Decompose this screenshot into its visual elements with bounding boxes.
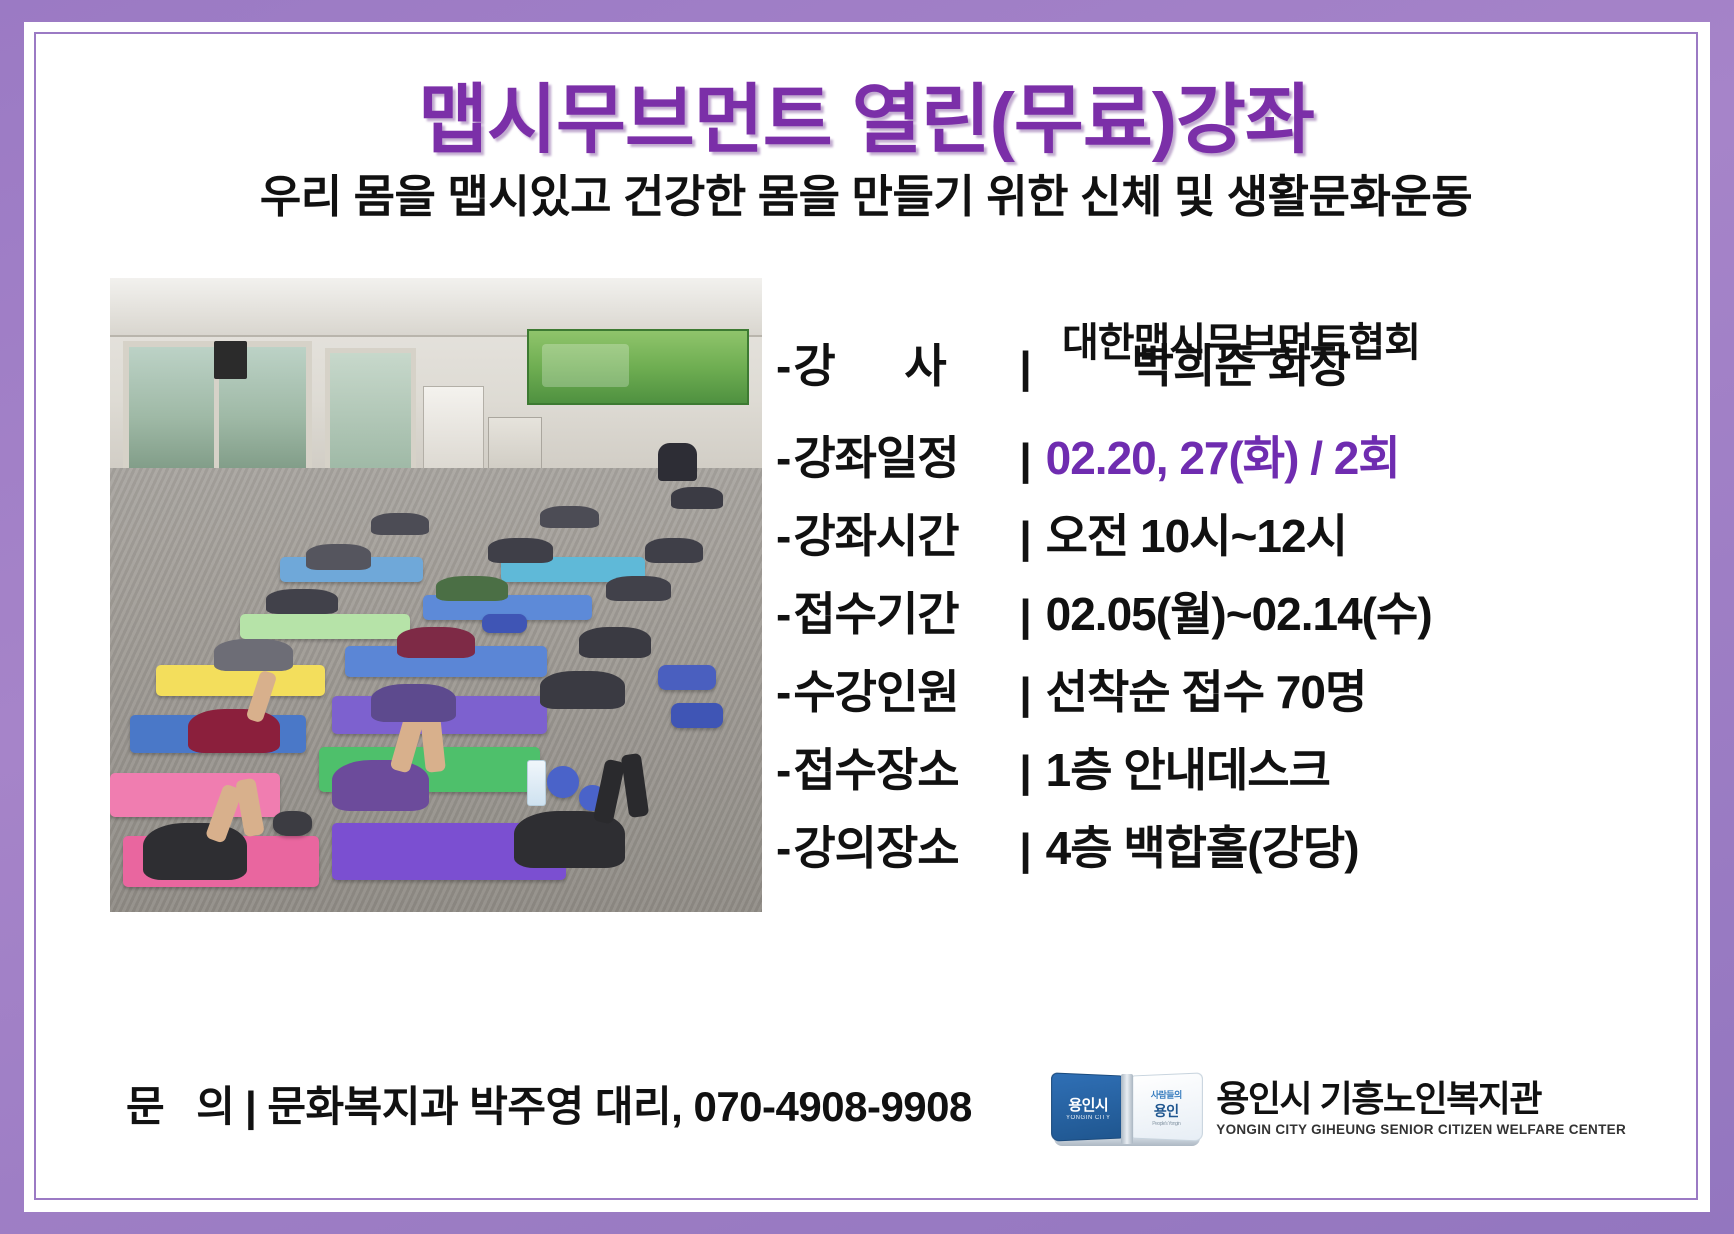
- book-right-text: 사람들의 용인 People's Yongin: [1136, 1088, 1196, 1127]
- row-label: 강 사: [793, 330, 1019, 396]
- logo-text-block: 용인시 기흥노인복지관 YONGIN CITY GIHEUNG SENIOR C…: [1216, 1081, 1626, 1137]
- page-title: 맵시무브먼트 열린(무료)강좌: [36, 58, 1696, 168]
- photo-bolster: [658, 665, 717, 690]
- info-row-lecture-place: - 강의장소 | 4층 백합홀(강당): [776, 812, 1676, 890]
- photo-participant: [436, 576, 508, 601]
- contact-separator: |: [245, 1083, 256, 1130]
- organization-name: 대한맵시무브먼트협회: [1062, 310, 1420, 368]
- row-dash: -: [776, 587, 791, 641]
- photo-participant: [371, 513, 430, 535]
- row-separator: |: [1019, 825, 1031, 875]
- row-value: 오전 10시~12시: [1046, 500, 1347, 566]
- photo-participant: [143, 823, 247, 880]
- photo-shoes: [273, 811, 312, 836]
- contact-line: 문 의| 문화복지과 박주영 대리, 070-4908-9908: [126, 1073, 972, 1134]
- book-right-sub: People's Yongin: [1136, 1121, 1196, 1127]
- photo-banner: [527, 329, 749, 405]
- row-dash: -: [776, 743, 791, 797]
- info-row-registration-period: - 접수기간 | 02.05(월)~02.14(수): [776, 578, 1676, 656]
- row-label: 강의장소: [793, 812, 1019, 878]
- contact-label: 문 의: [126, 1083, 245, 1130]
- photo-participant: [606, 576, 671, 601]
- row-dash: -: [776, 509, 791, 563]
- page-subtitle: 우리 몸을 맵시있고 건강한 몸을 만들기 위한 신체 및 생활문화운동: [36, 160, 1696, 225]
- photo-water-bottle: [527, 760, 545, 806]
- logo-name-ko: 용인시 기흥노인복지관: [1216, 1081, 1626, 1117]
- info-row-capacity: - 수강인원 | 선착순 접수 70명: [776, 656, 1676, 734]
- photo-participant: [306, 544, 371, 569]
- poster-content: 맵시무브먼트 열린(무료)강좌 우리 몸을 맵시있고 건강한 몸을 만들기 위한…: [36, 34, 1696, 1198]
- row-dash: -: [776, 339, 791, 393]
- row-dash: -: [776, 665, 791, 719]
- photo-bolster: [482, 614, 528, 633]
- row-separator: |: [1019, 669, 1031, 719]
- row-value: 02.20, 27(화) / 2회: [1046, 422, 1400, 488]
- row-value: 선착순 접수 70명: [1046, 656, 1367, 722]
- photo-participant: [488, 538, 553, 563]
- book-right-label: 용인: [1154, 1103, 1179, 1119]
- row-dash: -: [776, 431, 791, 485]
- photo-participant: [332, 760, 430, 811]
- book-spine: [1121, 1074, 1133, 1144]
- photo-bolster: [671, 703, 723, 728]
- row-dash: -: [776, 821, 791, 875]
- photo-mat: [240, 614, 410, 639]
- photo-participant: [645, 538, 704, 563]
- row-label: 접수장소: [793, 734, 1019, 800]
- photo-participant: [266, 589, 338, 614]
- info-row-time: - 강좌시간 | 오전 10시~12시: [776, 500, 1676, 578]
- book-left-sub: YONGIN CITY: [1060, 1115, 1116, 1121]
- course-info-list: 대한맵시무브먼트협회 - 강 사 | 박희준 회장 - 강좌일정 | 02.20…: [776, 330, 1676, 890]
- row-label: 수강인원: [793, 656, 1019, 722]
- contact-value: 문화복지과 박주영 대리, 070-4908-9908: [267, 1083, 972, 1130]
- logo-name-en: YONGIN CITY GIHEUNG SENIOR CITIZEN WELFA…: [1216, 1122, 1626, 1137]
- info-row-registration-place: - 접수장소 | 1층 안내데스크: [776, 734, 1676, 812]
- photo-participant: [671, 487, 723, 509]
- welfare-center-logo: 용인시 YONGIN CITY 사람들의 용인 People's Yongin …: [1052, 1072, 1626, 1146]
- photo-participant: [397, 627, 475, 659]
- photo-participant: [188, 709, 279, 753]
- row-value: 02.05(월)~02.14(수): [1046, 578, 1432, 644]
- poster-canvas: 맵시무브먼트 열린(무료)강좌 우리 몸을 맵시있고 건강한 몸을 만들기 위한…: [0, 0, 1734, 1234]
- row-separator: |: [1019, 343, 1031, 393]
- row-separator: |: [1019, 435, 1031, 485]
- photo-participant: [371, 684, 456, 722]
- info-row-schedule: - 강좌일정 | 02.20, 27(화) / 2회: [776, 422, 1676, 500]
- photo-speaker: [214, 341, 247, 379]
- photo-prop-ball: [547, 766, 580, 798]
- row-value: 4층 백합홀(강당): [1046, 812, 1359, 878]
- row-separator: |: [1019, 591, 1031, 641]
- class-photo: [110, 278, 762, 912]
- row-label: 강좌일정: [793, 422, 1019, 488]
- photo-participant: [579, 627, 651, 659]
- row-separator: |: [1019, 513, 1031, 563]
- book-left-text: 용인시 YONGIN CITY: [1060, 1094, 1116, 1121]
- photo-window-right: [325, 348, 416, 475]
- row-separator: |: [1019, 747, 1031, 797]
- photo-instructor: [658, 443, 697, 481]
- open-book-icon: 용인시 YONGIN CITY 사람들의 용인 People's Yongin: [1052, 1072, 1202, 1146]
- photo-participant: [540, 506, 599, 528]
- photo-participant: [214, 639, 292, 671]
- row-value: 1층 안내데스크: [1046, 734, 1330, 800]
- photo-participant: [540, 671, 625, 709]
- book-right-cal: 사람들의: [1136, 1088, 1196, 1101]
- row-label: 접수기간: [793, 578, 1019, 644]
- book-left-label: 용인시: [1068, 1097, 1108, 1114]
- row-label: 강좌시간: [793, 500, 1019, 566]
